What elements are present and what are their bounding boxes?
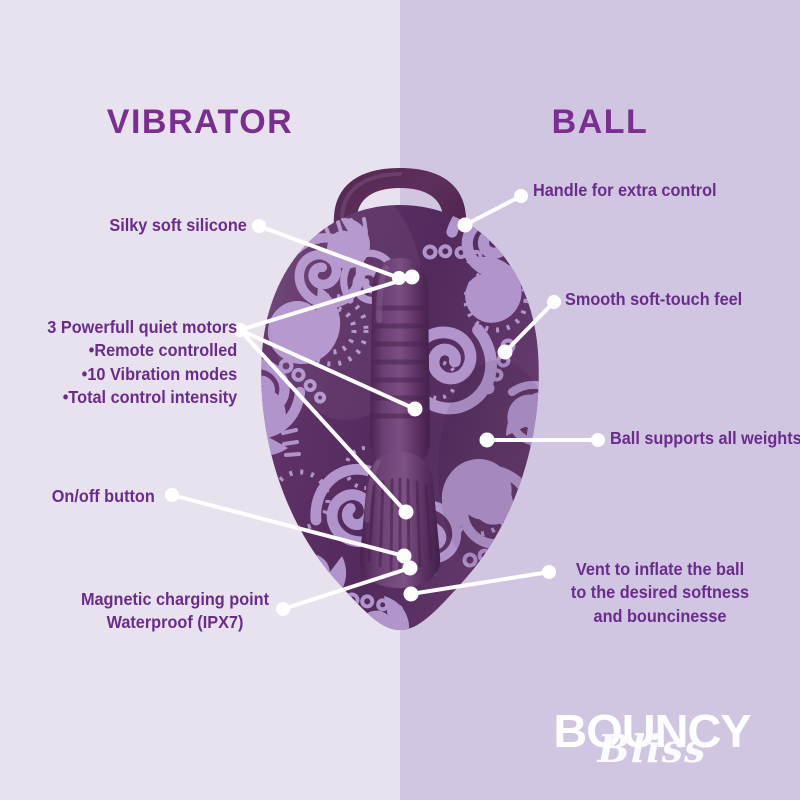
callout-waterproof-line: Waterproof (IPX7): [77, 611, 272, 634]
infographic-canvas: VIBRATOR BALL Silky soft silicone 3 Powe…: [0, 0, 800, 800]
section-heading-vibrator: VIBRATOR: [0, 103, 400, 142]
callout-vent-line: Vent to inflate the ball: [567, 558, 753, 581]
callout-magnetic-line: Magnetic charging point: [77, 588, 272, 611]
callout-silky-soft-silicone: Silky soft silicone: [110, 214, 247, 237]
callout-smooth-soft-touch-feel: Smooth soft-touch feel: [565, 288, 742, 311]
callout-motors-bullet-list: Remote controlled 10 Vibration modes Tot…: [47, 339, 237, 409]
callout-motors-bullet: Total control intensity: [47, 386, 237, 409]
section-heading-ball: BALL: [400, 103, 800, 142]
brand-logo: BOUNCY Bliss: [528, 702, 776, 778]
callout-handle-for-extra-control: Handle for extra control: [533, 179, 717, 202]
callout-ball-supports-all-weights: Ball supports all weights: [610, 427, 800, 450]
callout-motors-bullet: 10 Vibration modes: [47, 363, 237, 386]
callout-vent-line: and bouncinesse: [567, 605, 753, 628]
callout-on-off-button: On/off button: [52, 485, 155, 508]
callout-motors-bullet: Remote controlled: [47, 339, 237, 362]
callout-vent-to-inflate: Vent to inflate the ball to the desired …: [567, 558, 753, 628]
brand-logo-script: Bliss: [528, 730, 776, 768]
callout-powerful-quiet-motors: 3 Powerfull quiet motors Remote controll…: [47, 316, 237, 409]
callout-vent-line: to the desired softness: [567, 581, 753, 604]
callout-motors-title: 3 Powerfull quiet motors: [47, 316, 237, 339]
callout-magnetic-charging-point: Magnetic charging point Waterproof (IPX7…: [77, 588, 272, 635]
